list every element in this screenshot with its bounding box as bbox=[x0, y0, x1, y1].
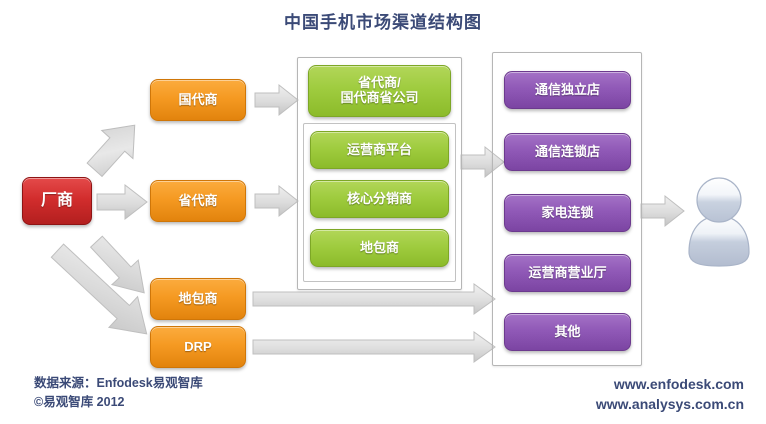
node-retail-other[interactable]: 其他 bbox=[504, 313, 631, 351]
node-distribution-operator-platform[interactable]: 运营商平台 bbox=[310, 131, 449, 169]
footer-urls: www.enfodesk.com www.analysys.com.cn bbox=[596, 374, 744, 415]
arrow-drp-to-retail bbox=[252, 330, 498, 364]
node-retail-chain-store[interactable]: 通信连锁店 bbox=[504, 133, 631, 171]
arrow-retail-to-consumer bbox=[640, 194, 686, 228]
arrow-national-to-distribution bbox=[254, 83, 300, 117]
user-icon bbox=[685, 176, 753, 268]
node-agent-national[interactable]: 国代商 bbox=[150, 79, 246, 121]
diagram-canvas: 中国手机市场渠道结构图 bbox=[0, 0, 766, 424]
node-retail-appliance-chain[interactable]: 家电连锁 bbox=[504, 194, 631, 232]
footer-copyright: ©易观智库 2012 bbox=[34, 393, 203, 412]
footer-url-analysys[interactable]: www.analysys.com.cn bbox=[596, 394, 744, 414]
node-agent-local[interactable]: 地包商 bbox=[150, 278, 246, 320]
footer-url-enfodesk[interactable]: www.enfodesk.com bbox=[596, 374, 744, 394]
node-retail-operator-hall[interactable]: 运营商营业厅 bbox=[504, 254, 631, 292]
arrow-manufacturer-to-provincial bbox=[95, 183, 149, 221]
node-agent-provincial[interactable]: 省代商 bbox=[150, 180, 246, 222]
node-agent-drp[interactable]: DRP bbox=[150, 326, 246, 368]
node-distribution-local-packager[interactable]: 地包商 bbox=[310, 229, 449, 267]
node-distribution-provincial-branch[interactable]: 省代商/ 国代商省公司 bbox=[308, 65, 451, 117]
arrow-provincial-to-distribution bbox=[254, 184, 300, 218]
page-title: 中国手机市场渠道结构图 bbox=[0, 8, 766, 33]
node-retail-independent-store[interactable]: 通信独立店 bbox=[504, 71, 631, 109]
footer-source: 数据来源：Enfodesk易观智库 ©易观智库 2012 bbox=[34, 374, 203, 413]
footer-source-line1: 数据来源：Enfodesk易观智库 bbox=[34, 374, 203, 393]
node-distribution-core-distributor[interactable]: 核心分销商 bbox=[310, 180, 449, 218]
node-manufacturer[interactable]: 厂商 bbox=[22, 177, 92, 225]
